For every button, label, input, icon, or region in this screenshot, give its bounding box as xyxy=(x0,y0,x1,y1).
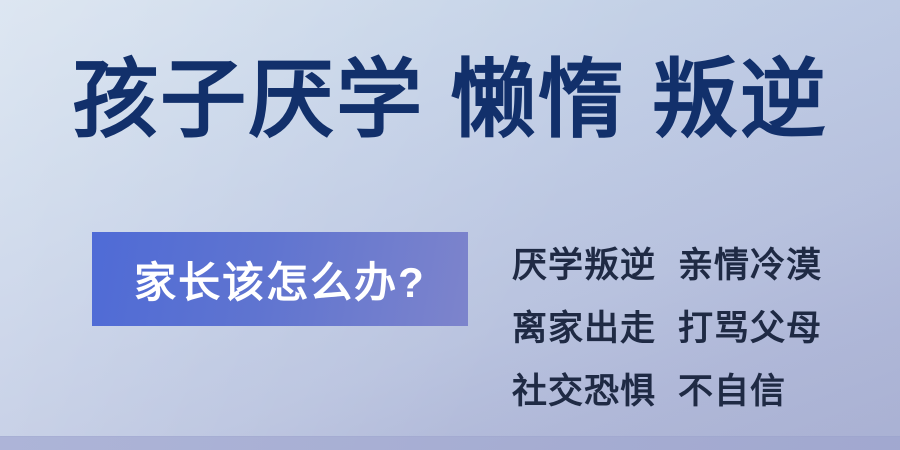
issue-left: 离家出走 xyxy=(512,309,656,348)
cta-button[interactable]: 家长该怎么办? xyxy=(92,232,468,326)
footer-strip xyxy=(0,436,900,450)
issue-right: 亲情冷漠 xyxy=(678,246,822,285)
issue-left: 社交恐惧 xyxy=(512,372,656,411)
issue-right: 不自信 xyxy=(678,372,786,411)
list-item: 厌学叛逆亲情冷漠 xyxy=(512,234,842,297)
list-item: 离家出走打骂父母 xyxy=(512,297,842,360)
issue-right: 打骂父母 xyxy=(678,309,822,348)
promo-banner: 孩子厌学 懒惰 叛逆 家长该怎么办? 厌学叛逆亲情冷漠 离家出走打骂父母 社交恐… xyxy=(0,0,900,450)
cta-button-label: 家长该怎么办? xyxy=(134,249,426,310)
issue-left: 厌学叛逆 xyxy=(512,246,656,285)
list-item: 社交恐惧不自信 xyxy=(512,360,842,423)
issue-list: 厌学叛逆亲情冷漠 离家出走打骂父母 社交恐惧不自信 xyxy=(512,234,842,423)
page-title: 孩子厌学 懒惰 叛逆 xyxy=(0,52,900,148)
